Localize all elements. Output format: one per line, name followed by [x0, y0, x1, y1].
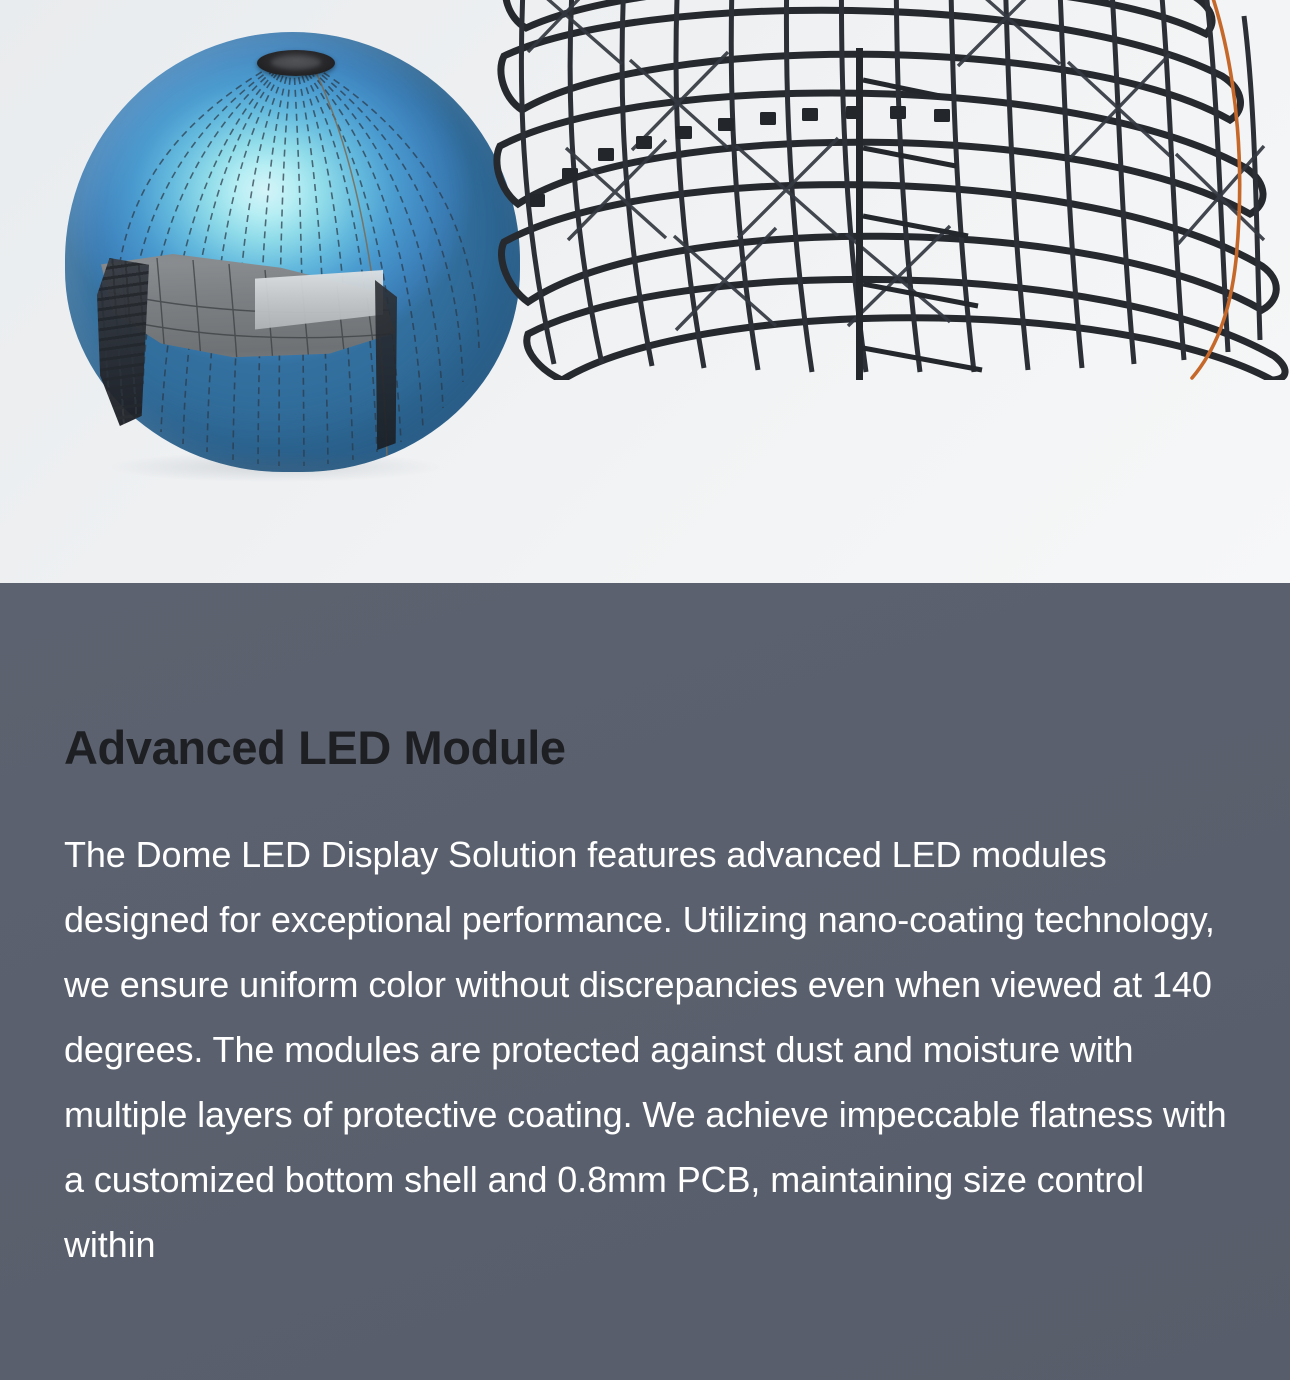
page-root: Advanced LED Module The Dome LED Display… — [0, 0, 1290, 1380]
dome-apex-aperture — [257, 50, 335, 76]
blue-dome-module — [57, 22, 527, 482]
steel-support-frame — [470, 0, 1290, 380]
hero-render-stage — [0, 0, 1290, 583]
content-panel: Advanced LED Module The Dome LED Display… — [0, 583, 1290, 1380]
page-title: Advanced LED Module — [64, 723, 1234, 772]
dome-contact-shadow — [110, 452, 440, 482]
content-container: Advanced LED Module The Dome LED Display… — [64, 583, 1234, 1277]
dome-cut-truss-left — [97, 258, 149, 426]
hero-product-image — [0, 0, 1290, 583]
section-description: The Dome LED Display Solution features a… — [64, 822, 1232, 1277]
dome-cut-edge-right — [375, 280, 397, 450]
